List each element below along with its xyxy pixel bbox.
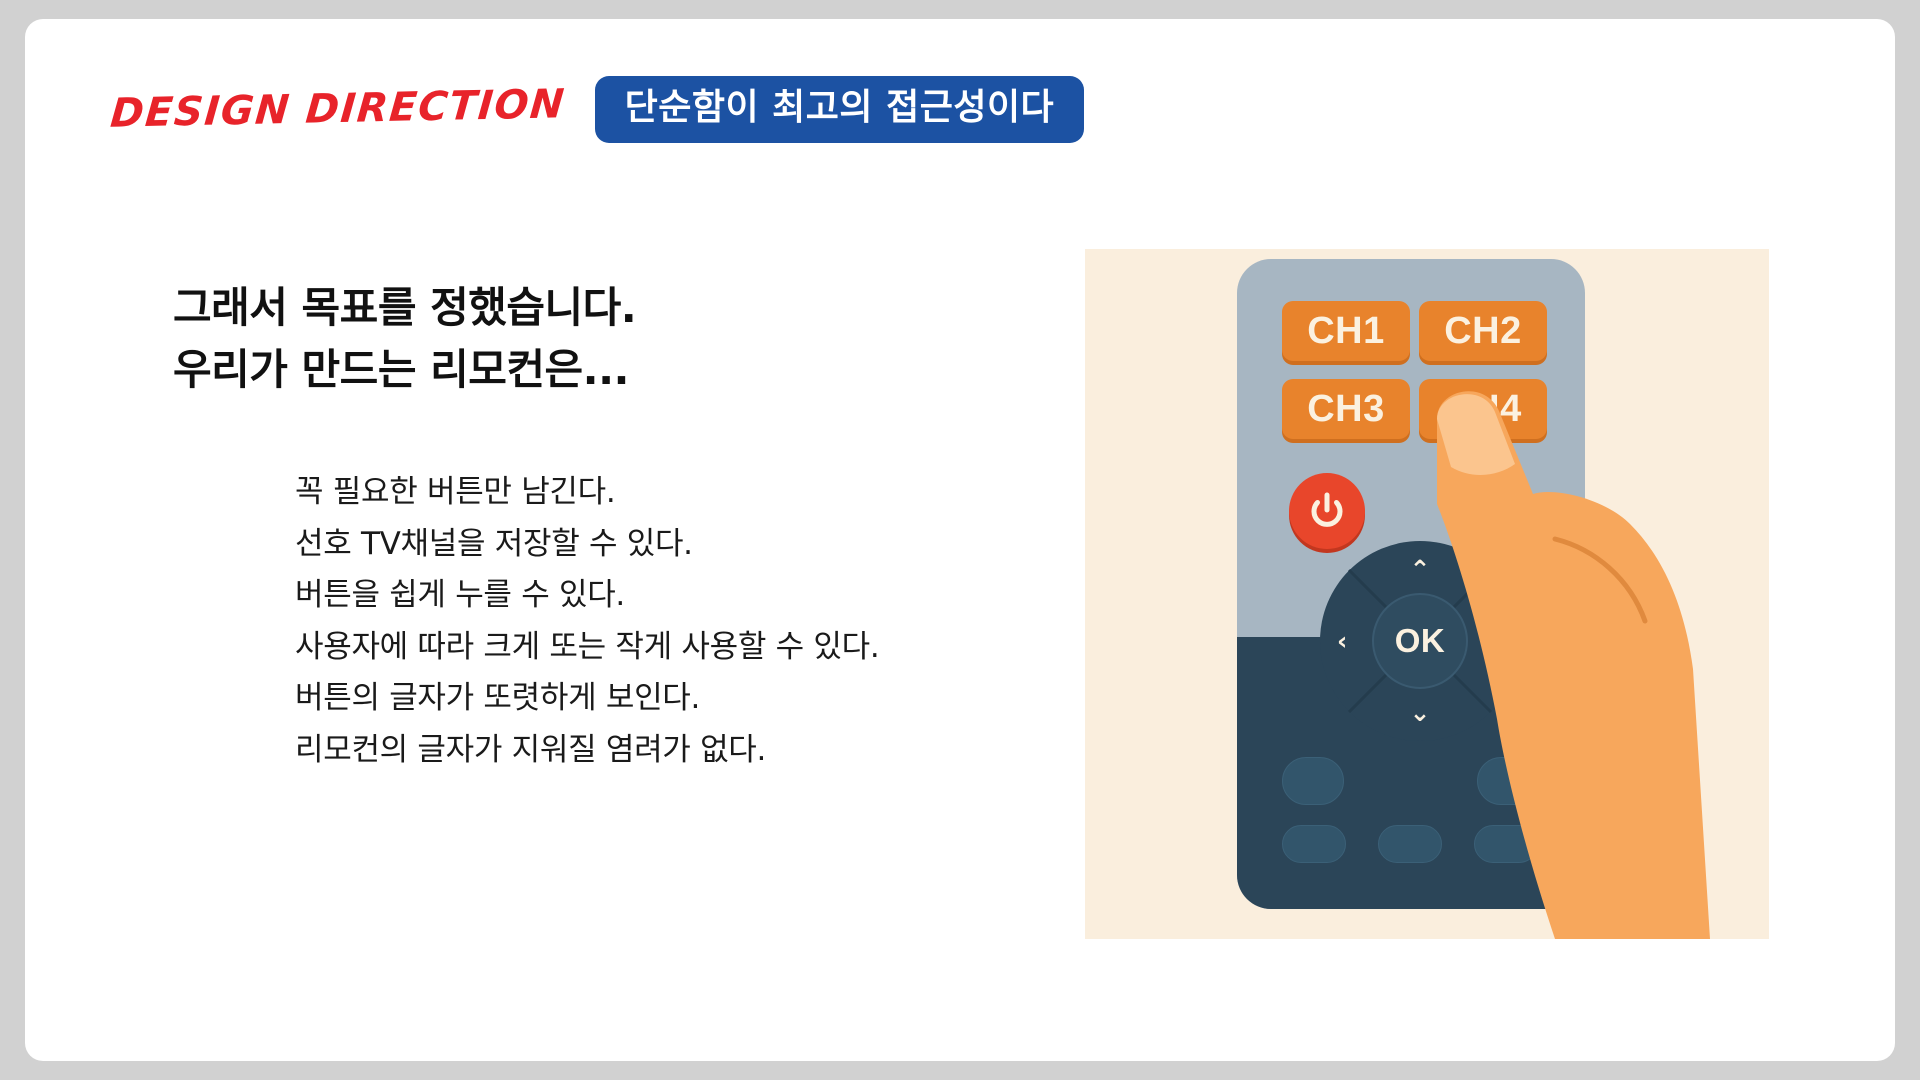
list-item: 사용자에 따라 크게 또는 작게 사용할 수 있다. [295,622,1053,673]
list-item: 버튼의 글자가 또렷하게 보인다. [295,673,1053,724]
headline-badge: 단순함이 최고의 접근성이다 [595,76,1085,143]
lower-key [1477,757,1539,805]
chevron-right-icon: › [1493,629,1503,654]
list-item: 버튼을 쉽게 누를 수 있다. [295,570,1053,621]
list-item: 꼭 필요한 버튼만 남긴다. [295,467,1053,518]
power-button [1289,473,1365,549]
lower-key [1474,825,1538,863]
chevron-down-icon: ⌄ [1410,700,1431,725]
lead-heading-line-1: 그래서 목표를 정했습니다. [173,277,1053,339]
lead-heading-line-2: 우리가 만드는 리모컨은... [173,339,1053,401]
slide-header: DESIGN DIRECTION 단순함이 최고의 접근성이다 [111,69,1084,149]
chevron-up-icon: ⌃ [1410,557,1431,582]
lower-key [1378,825,1442,863]
dpad-cluster: ⌃ ⌄ ‹ › OK [1320,541,1520,741]
channel-button-ch3: CH3 [1282,379,1410,439]
goal-list: 꼭 필요한 버튼만 남긴다. 선호 TV채널을 저장할 수 있다. 버튼을 쉽게… [295,467,1053,776]
channel-button-ch2: CH2 [1419,301,1547,361]
lower-key [1282,757,1344,805]
lower-key [1282,825,1346,863]
slide-card: DESIGN DIRECTION 단순함이 최고의 접근성이다 그래서 목표를 … [25,19,1895,1061]
ok-button: OK [1372,593,1468,689]
remote-control-device: CH1 CH2 CH3 CH4 ⌃ ⌄ ‹ › [1237,259,1585,909]
list-item: 선호 TV채널을 저장할 수 있다. [295,519,1053,570]
channel-button-ch4: CH4 [1419,379,1547,439]
list-item: 리모컨의 글자가 지워질 염려가 없다. [295,725,1053,776]
eyebrow-title: DESIGN DIRECTION [109,84,567,133]
power-icon [1306,490,1348,532]
chevron-left-icon: ‹ [1337,629,1347,654]
lead-heading: 그래서 목표를 정했습니다. 우리가 만드는 리모컨은... [173,277,1053,401]
channel-button-ch1: CH1 [1282,301,1410,361]
text-column: 그래서 목표를 정했습니다. 우리가 만드는 리모컨은... 꼭 필요한 버튼만… [173,277,1053,776]
remote-illustration-panel: CH1 CH2 CH3 CH4 ⌃ ⌄ ‹ › [1085,249,1769,939]
